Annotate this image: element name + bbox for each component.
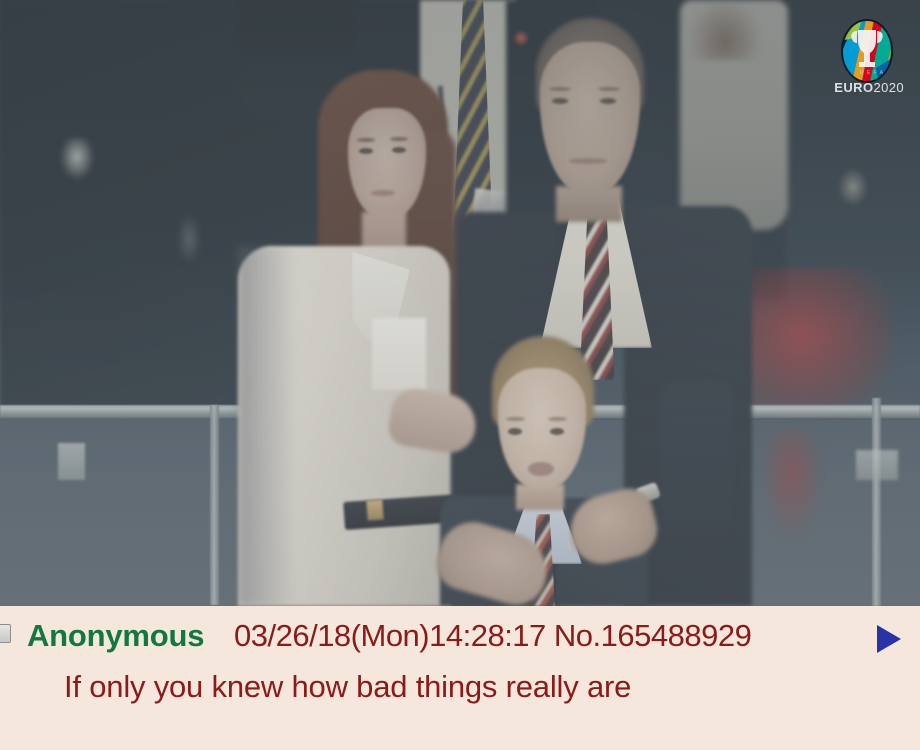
play-triangle-icon[interactable] — [877, 625, 901, 653]
screenshot-root: U E F A EURO2020 Anonymous 03/26/18(Mon)… — [0, 0, 920, 750]
wall-placard-right — [856, 450, 898, 480]
railing-post-left — [210, 405, 219, 605]
post-image[interactable]: U E F A EURO2020 — [0, 0, 920, 606]
euro-wordmark-year: 2020 — [873, 80, 904, 95]
man-eyebrow-right — [598, 87, 620, 91]
woman-eyebrow-right — [390, 137, 408, 141]
red-stadium-seats-lower — [762, 430, 822, 540]
post-comment-text: If only you knew how bad things really a… — [64, 668, 884, 707]
boy-eye-left — [508, 428, 522, 435]
lapel-pin — [513, 30, 529, 46]
woman-eyebrow-left — [357, 138, 375, 142]
post-author-name: Anonymous — [27, 618, 204, 654]
woman-mouth — [371, 190, 395, 196]
wall-crest — [838, 168, 868, 206]
woman-eye-left — [359, 148, 373, 154]
background-light-blob — [60, 138, 94, 180]
man-mouth — [568, 158, 608, 164]
wall-placard-left — [58, 443, 85, 480]
boy-eye-right — [550, 428, 564, 435]
post-select-checkbox[interactable] — [0, 624, 11, 643]
background-light-blob-2 — [178, 215, 200, 263]
man-eye-right — [600, 98, 616, 104]
man-arm-right — [660, 380, 734, 540]
euro-wordmark-primary: EURO — [834, 80, 873, 95]
boy-mouth — [528, 462, 554, 476]
boy-eyebrow-left — [506, 417, 525, 421]
man-eye-left — [552, 98, 568, 104]
post-container: Anonymous 03/26/18(Mon)14:28:17 No.16548… — [0, 606, 920, 750]
woman-belt-buckle — [366, 499, 383, 520]
boy-eyebrow-right — [548, 417, 567, 421]
post-meta-line: 03/26/18(Mon)14:28:17 No.165488929 — [234, 618, 751, 654]
uefa-label: U E F A — [860, 70, 884, 76]
red-stadium-seats — [742, 268, 892, 418]
woman-eye-right — [392, 147, 406, 153]
post-header: Anonymous 03/26/18(Mon)14:28:17 No.16548… — [0, 610, 920, 652]
railing-post-right — [872, 398, 881, 606]
background-spectator-head — [690, 0, 760, 60]
woman-top — [372, 318, 426, 390]
euro-wordmark: EURO2020 — [834, 80, 904, 95]
man-eyebrow-left — [549, 87, 571, 91]
woman-coat-shadow — [238, 246, 296, 606]
